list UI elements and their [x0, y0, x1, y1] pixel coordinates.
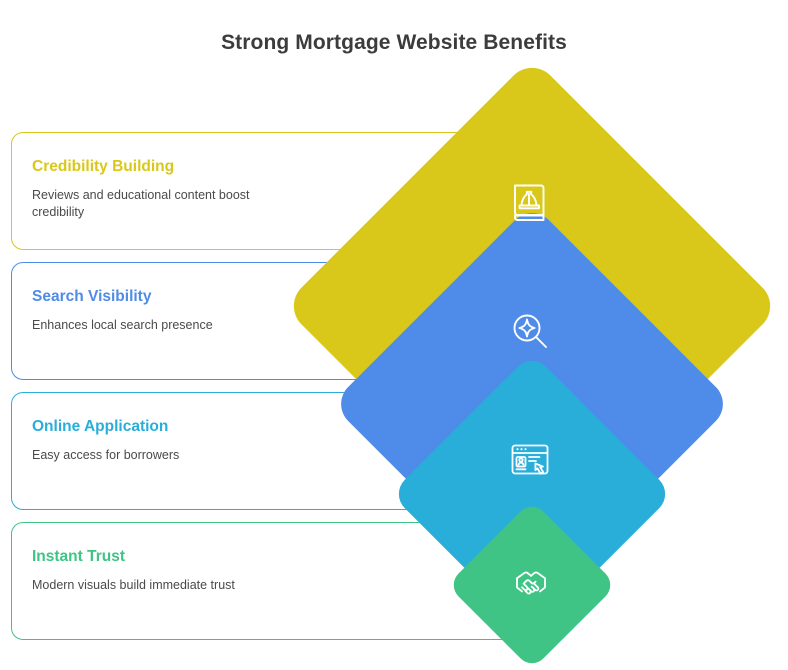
benefit-card-title: Credibility Building	[32, 157, 174, 177]
benefit-card-description: Easy access for borrowers	[32, 447, 302, 464]
infographic-canvas: Strong Mortgage Website Benefits Credibi…	[0, 0, 788, 657]
benefit-card-description: Enhances local search presence	[32, 317, 302, 334]
benefit-card-title: Search Visibility	[32, 287, 151, 307]
benefit-card-title: Instant Trust	[32, 547, 125, 567]
benefit-card-title: Online Application	[32, 417, 168, 437]
benefit-card-description: Reviews and educational content boost cr…	[32, 187, 302, 221]
benefit-card-description: Modern visuals build immediate trust	[32, 577, 302, 594]
